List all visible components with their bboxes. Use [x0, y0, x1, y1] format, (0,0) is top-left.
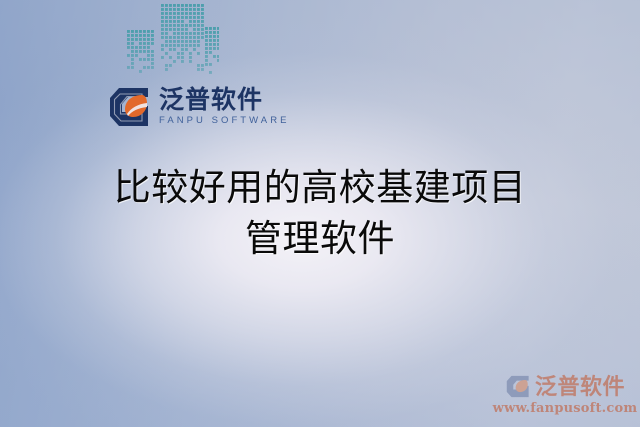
brand-name-en: FANPU SOFTWARE: [159, 116, 290, 126]
watermark-name-cn: 泛普软件: [535, 376, 625, 398]
left-building: [127, 30, 154, 73]
right-building: [205, 27, 219, 74]
pixel-buildings-icon: [127, 2, 219, 82]
watermark-logo-row: 泛普软件: [505, 374, 625, 399]
page-title: 比较好用的高校基建项目 管理软件: [0, 162, 640, 264]
brand-wordmark: 泛普软件 FANPU SOFTWARE: [159, 88, 290, 126]
center-building: [161, 4, 204, 71]
watermark: 泛普软件 www.fanpusoft.com: [498, 374, 632, 415]
brand-name-cn: 泛普软件: [159, 88, 290, 113]
page-title-line-2: 管理软件: [0, 213, 640, 264]
brand-logo: 泛普软件 FANPU SOFTWARE: [108, 86, 290, 128]
page-title-line-1: 比较好用的高校基建项目: [0, 162, 640, 213]
watermark-url: www.fanpusoft.com: [493, 402, 638, 415]
fanpu-logo-mark: [108, 86, 152, 128]
fanpu-watermark-mark: [505, 374, 531, 399]
slide-canvas: 泛普软件 FANPU SOFTWARE 比较好用的高校基建项目 管理软件 泛普软…: [0, 0, 640, 427]
